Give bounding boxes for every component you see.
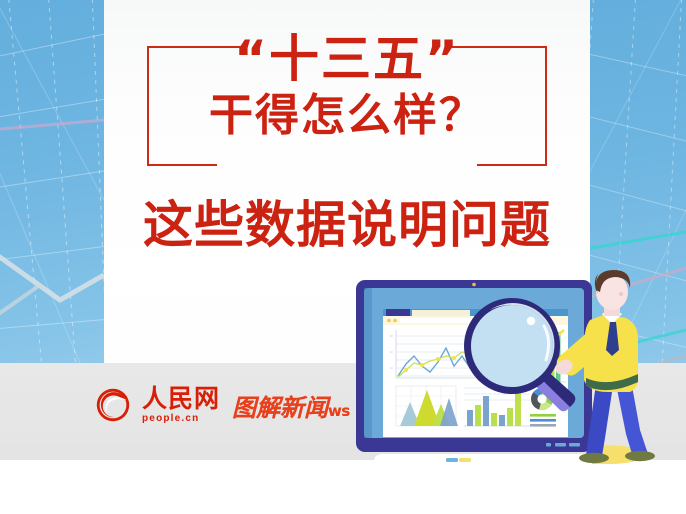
poster-canvas: “十三五” 干得怎么样？ 这些数据说明问题 人民网 people.cn 图解新闻… bbox=[0, 0, 686, 514]
area-mountain-chart bbox=[396, 386, 458, 426]
headline-line-2: 干得怎么样？ bbox=[209, 90, 485, 142]
headline-line-1: “十三五” bbox=[234, 30, 460, 88]
frame-edge-top-right bbox=[449, 46, 547, 48]
headline-line-3: 这些数据说明问题 bbox=[104, 194, 590, 256]
headline-frame: “十三五” 干得怎么样？ bbox=[147, 46, 547, 166]
frame-edge-bottom-right bbox=[477, 164, 547, 166]
headline-block: “十三五” 干得怎么样？ bbox=[104, 46, 590, 166]
data-analysis-illustration: 804010 bbox=[340, 268, 686, 488]
frame-edge-left bbox=[147, 46, 149, 166]
brand-logo-row: 人民网 people.cn 图解新闻ws bbox=[96, 386, 350, 424]
column-logo: 图解新闻ws bbox=[232, 388, 350, 423]
people-daily-wordmark: 人民网 people.cn bbox=[142, 386, 220, 424]
frame-edge-right bbox=[545, 46, 547, 166]
brand-name-en: people.cn bbox=[142, 414, 220, 424]
column-name-cn: 图解新闻 bbox=[232, 394, 328, 422]
people-daily-swoosh-icon bbox=[96, 388, 130, 422]
frame-edge-top-left bbox=[147, 46, 245, 48]
frame-edge-bottom-left bbox=[147, 164, 217, 166]
brand-name-cn: 人民网 bbox=[142, 386, 220, 411]
